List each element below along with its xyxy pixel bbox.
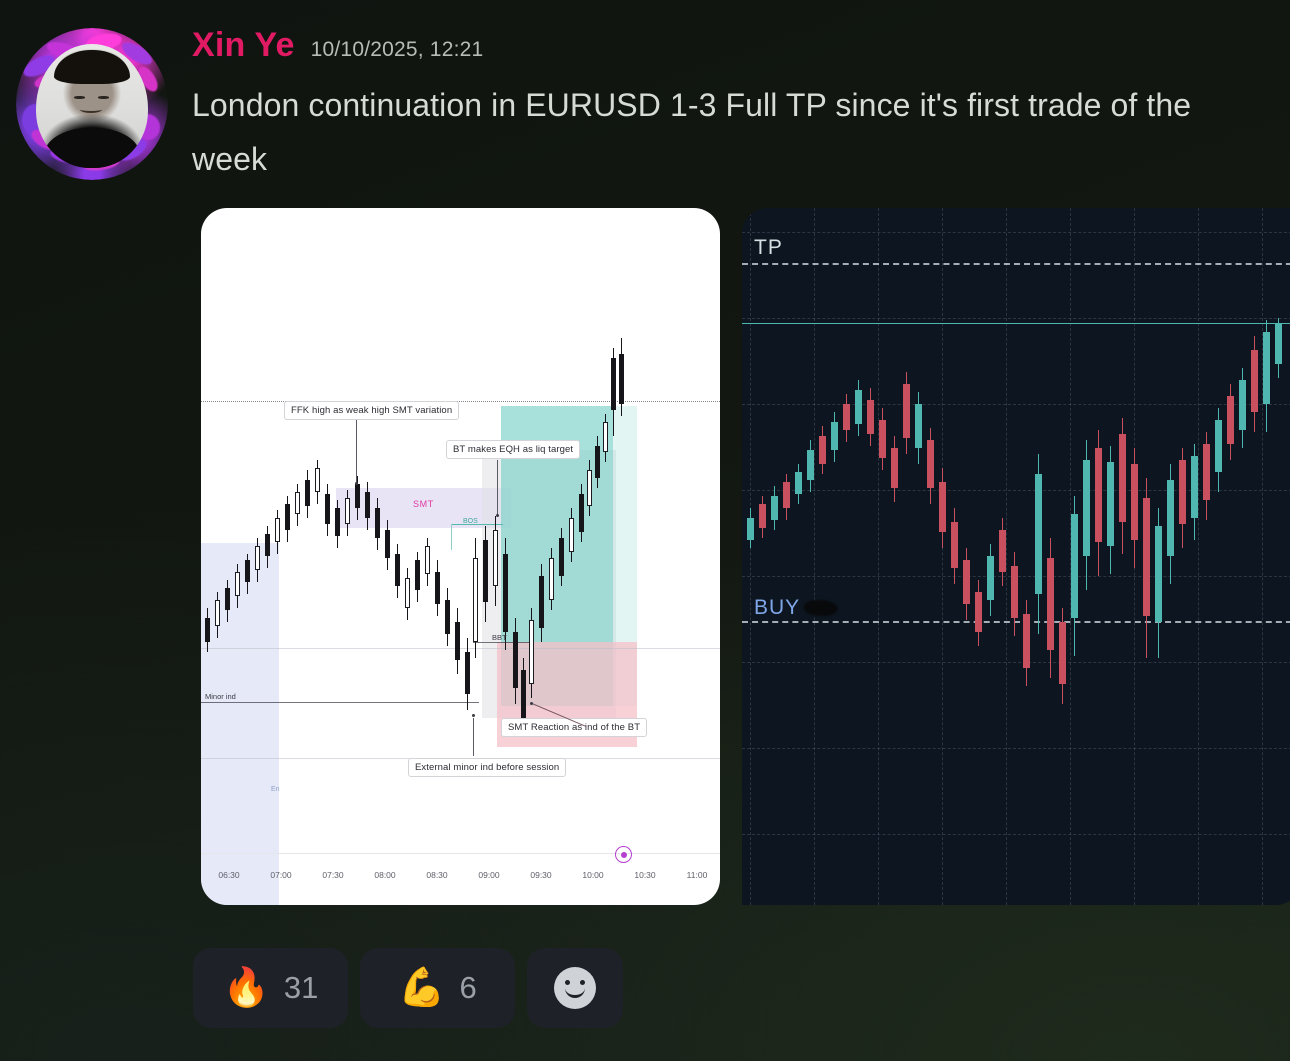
- annotation-smt-reaction-dot: [530, 702, 533, 705]
- annotation-bbt: BBT: [492, 633, 507, 642]
- attachment-annotated-chart[interactable]: FFK high as weak high SMT variation BT m…: [201, 208, 720, 905]
- message-timestamp: 10/10/2025, 12:21: [311, 38, 484, 62]
- annotation-ffk-dot: [355, 482, 358, 485]
- avatar-shirt: [44, 128, 140, 168]
- attachments: FFK high as weak high SMT variation BT m…: [201, 208, 1290, 905]
- axis-tick-8: 10:30: [634, 870, 655, 880]
- annotation-smt: SMT: [413, 499, 434, 509]
- avatar-decorative-frame: [16, 28, 168, 180]
- annotation-bt-eqh: BT makes EQH as liq target: [446, 440, 580, 459]
- session-end-marker: En: [271, 786, 280, 793]
- trade-chart-candles: [742, 208, 1290, 905]
- smiley-face-icon: [554, 967, 596, 1009]
- message-text: London continuation in EURUSD 1-3 Full T…: [192, 78, 1222, 186]
- annotation-external-minor-ind: External minor ind before session: [408, 758, 566, 777]
- avatar-photo: [36, 44, 148, 168]
- reaction-fire-count: 31: [284, 970, 318, 1006]
- message-header: Xin Ye 10/10/2025, 12:21: [192, 26, 1290, 70]
- avatar-mouth: [80, 106, 102, 113]
- axis-tick-9: 11:00: [687, 870, 708, 880]
- avatar[interactable]: [16, 28, 168, 180]
- axis-tick-0: 06:30: [218, 870, 239, 880]
- reaction-flexed-biceps[interactable]: 💪 6: [360, 948, 515, 1028]
- annotation-ffk-leader: [356, 420, 357, 484]
- axis-tick-3: 08:00: [374, 870, 395, 880]
- axis-tick-4: 08:30: [426, 870, 447, 880]
- reaction-fire[interactable]: 🔥 31: [193, 948, 348, 1028]
- attachment-trade-chart[interactable]: TP BUY: [742, 208, 1290, 905]
- fire-icon: 🔥: [223, 969, 270, 1007]
- avatar-eye-left: [74, 96, 85, 99]
- annotation-bos: BOS: [463, 518, 478, 525]
- annotation-external-dot: [472, 714, 475, 717]
- reactions-bar: 🔥 31 💪 6: [193, 948, 623, 1028]
- avatar-hair: [54, 50, 130, 84]
- annotation-bt-eqh-leader: [497, 460, 498, 516]
- author-name[interactable]: Xin Ye: [192, 26, 295, 65]
- avatar-eye-right: [98, 96, 109, 99]
- reaction-flexed-biceps-count: 6: [460, 970, 477, 1006]
- axis-tick-7: 10:00: [582, 870, 603, 880]
- add-reaction-button[interactable]: [527, 948, 623, 1028]
- session-badge-icon[interactable]: [615, 846, 632, 863]
- chat-message: Xin Ye 10/10/2025, 12:21 London continua…: [0, 0, 1290, 905]
- annotated-chart-plot: FFK high as weak high SMT variation BT m…: [201, 208, 720, 853]
- axis-tick-6: 09:30: [530, 870, 551, 880]
- annotation-external-leader: [473, 718, 474, 756]
- annotation-ffk-high: FFK high as weak high SMT variation: [284, 401, 459, 420]
- annotated-chart-time-axis: 06:30 07:00 07:30 08:00 08:30 09:00 09:3…: [201, 853, 720, 905]
- annotation-minor-ind: Minor ind: [205, 692, 236, 701]
- price-candles: [201, 208, 720, 853]
- axis-tick-1: 07:00: [270, 870, 291, 880]
- axis-tick-2: 07:30: [322, 870, 343, 880]
- flexed-biceps-icon: 💪: [398, 969, 445, 1007]
- axis-tick-5: 09:00: [478, 870, 499, 880]
- annotation-bt-eqh-dot: [496, 514, 499, 517]
